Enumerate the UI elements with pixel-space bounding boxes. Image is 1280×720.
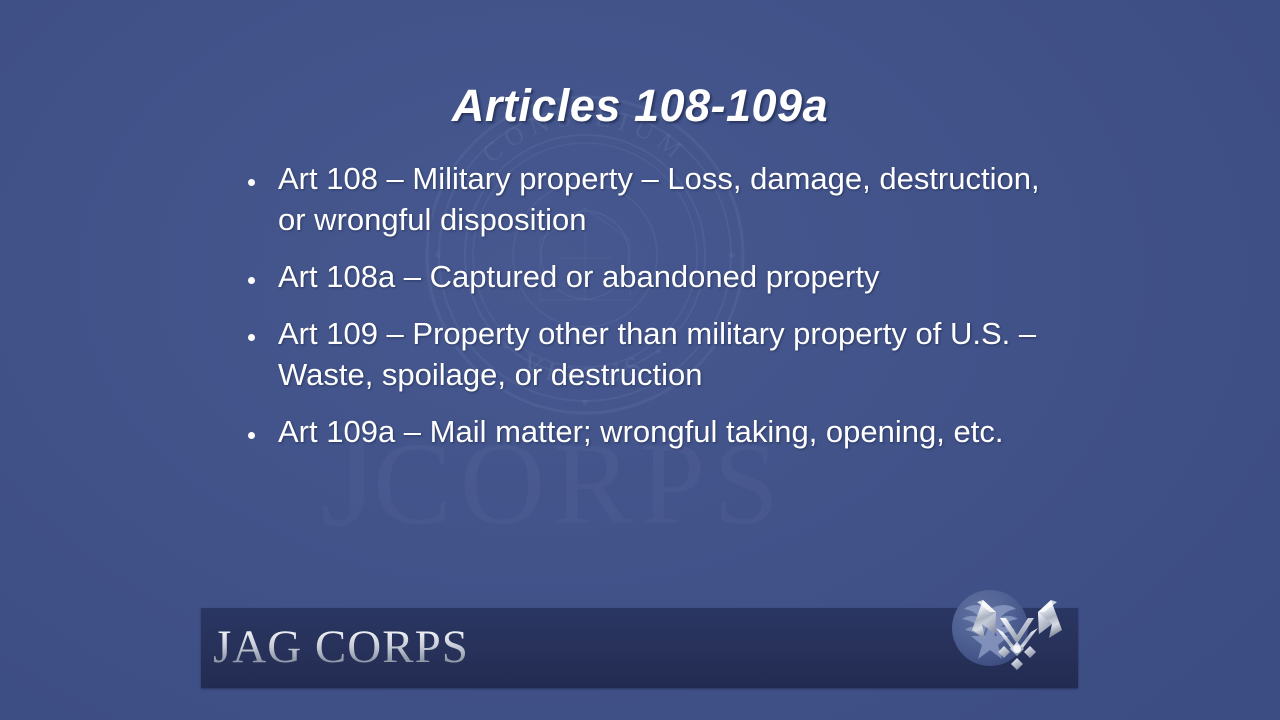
list-item: Art 109a – Mail matter; wrongful taking,… [248, 411, 1048, 452]
bullet-text: Art 109 – Property other than military p… [278, 313, 1048, 395]
bullet-text: Art 108a – Captured or abandoned propert… [278, 256, 1048, 297]
jag-corps-wordmark: JAG CORPS [213, 616, 469, 678]
bullet-dot-icon [248, 256, 278, 289]
slide-title: Articles 108-109a [0, 80, 1280, 132]
air-force-wings-emblem [938, 582, 1066, 684]
bullet-dot-icon [248, 411, 278, 444]
list-item: Art 108 – Military property – Loss, dama… [248, 158, 1048, 240]
bullet-text: Art 108 – Military property – Loss, dama… [278, 158, 1048, 240]
bullet-list: Art 108 – Military property – Loss, dama… [248, 158, 1048, 468]
bullet-dot-icon [248, 313, 278, 346]
presentation-slide: · VIRTUS · · CONSILIUM · J CORPS Article… [0, 0, 1280, 720]
bullet-text: Art 109a – Mail matter; wrongful taking,… [278, 411, 1048, 452]
air-force-wings-icon [938, 582, 1066, 684]
list-item: Art 108a – Captured or abandoned propert… [248, 256, 1048, 297]
list-item: Art 109 – Property other than military p… [248, 313, 1048, 395]
bullet-dot-icon [248, 158, 278, 191]
